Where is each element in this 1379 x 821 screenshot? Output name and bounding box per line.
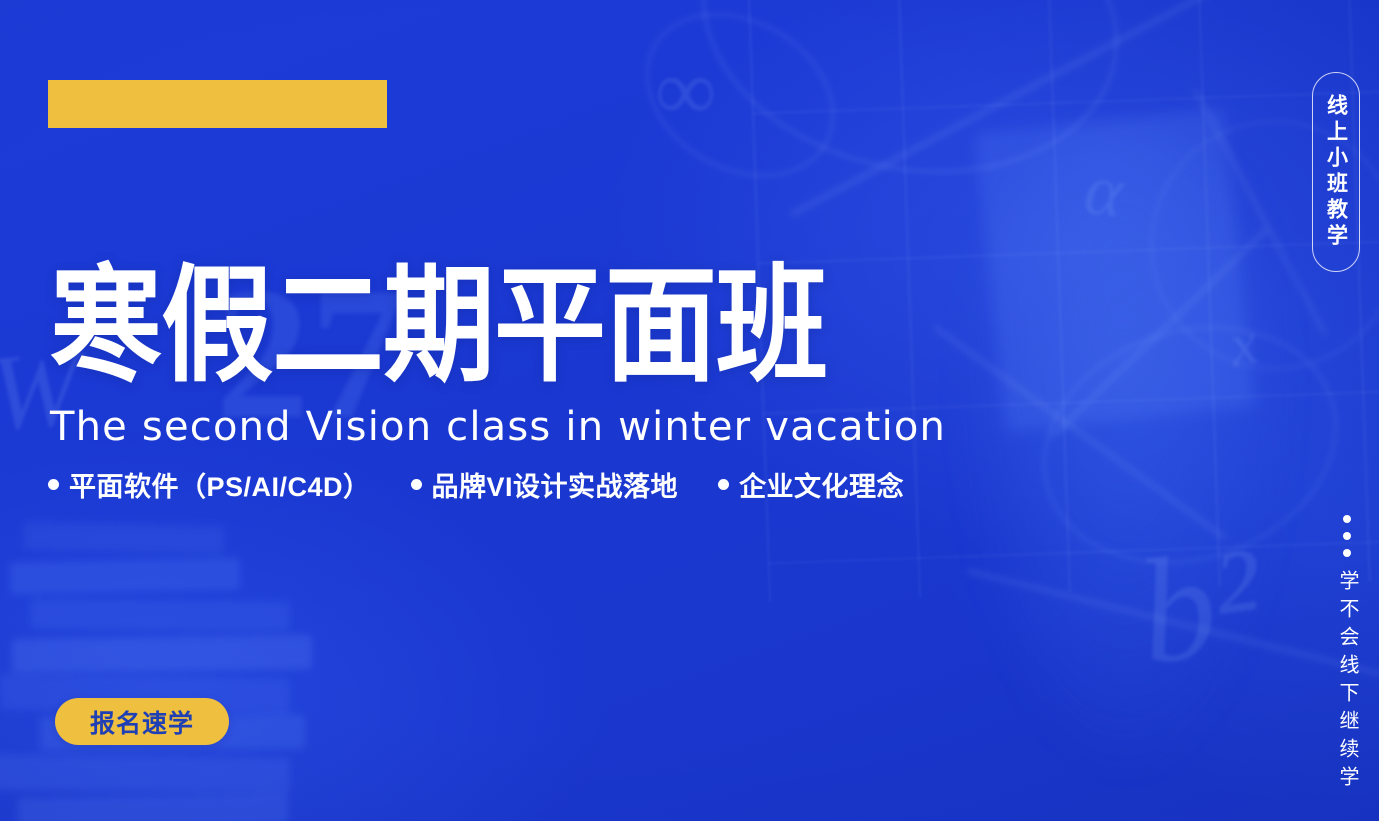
poster-canvas: 27 b² α x ∞ W 寒假二期平面班 The second Vision … bbox=[0, 0, 1379, 821]
feature-label: 平面软件（PS/AI/C4D） bbox=[69, 465, 371, 504]
guarantee-note-label: 学不会线下继续学 bbox=[1337, 570, 1357, 794]
feature-item: 平面软件（PS/AI/C4D） bbox=[48, 465, 371, 504]
bullet-dot-icon bbox=[411, 479, 422, 490]
poster-content: 寒假二期平面班 The second Vision class in winte… bbox=[0, 0, 1379, 821]
bullet-dot-icon bbox=[48, 479, 59, 490]
online-small-class-badge-label: 线上小班教学 bbox=[1326, 94, 1347, 250]
bullet-dot-icon bbox=[718, 479, 729, 490]
dot-icon bbox=[1343, 515, 1351, 523]
enroll-button[interactable]: 报名速学 bbox=[55, 698, 229, 745]
title-block: 寒假二期平面班 The second Vision class in winte… bbox=[50, 262, 946, 450]
online-small-class-badge: 线上小班教学 bbox=[1312, 72, 1360, 272]
page-title: 寒假二期平面班 bbox=[50, 262, 946, 391]
guarantee-note: 学不会线下继续学 bbox=[1337, 515, 1357, 794]
feature-list: 平面软件（PS/AI/C4D） 品牌VI设计实战落地 企业文化理念 bbox=[48, 465, 904, 504]
feature-item: 企业文化理念 bbox=[718, 465, 904, 504]
feature-item: 品牌VI设计实战落地 bbox=[411, 465, 679, 504]
dot-icon bbox=[1343, 532, 1351, 540]
feature-label: 品牌VI设计实战落地 bbox=[432, 465, 679, 504]
page-subtitle: The second Vision class in winter vacati… bbox=[50, 404, 946, 450]
decorative-yellow-bar bbox=[48, 80, 387, 128]
dot-icon bbox=[1343, 549, 1351, 557]
three-dots-icon bbox=[1343, 515, 1351, 557]
feature-label: 企业文化理念 bbox=[739, 465, 904, 504]
